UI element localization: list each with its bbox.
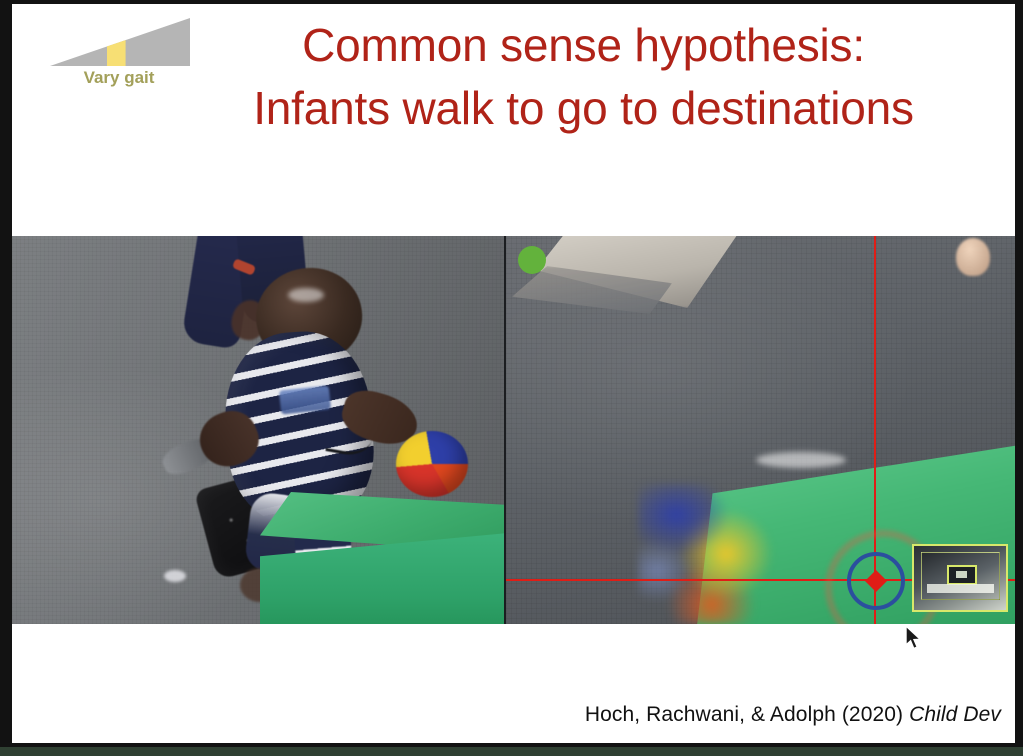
green-box-specular — [288, 288, 324, 302]
citation-journal: Child Dev — [909, 703, 1001, 726]
page-title: Common sense hypothesis: Infants walk to… — [162, 14, 1005, 141]
pip-inner-frame — [921, 552, 1000, 600]
presentation-window: Vary gait Common sense hypothesis: Infan… — [0, 0, 1023, 756]
recording-indicator-dot — [518, 246, 546, 274]
multicolor-ball-blurred — [638, 484, 798, 624]
video-panel-eye-tracker[interactable] — [506, 236, 1015, 624]
slide-header: Vary gait Common sense hypothesis: Infan… — [12, 4, 1015, 232]
slide-footer: Hoch, Rachwani, & Adolph (2020) Child De… — [12, 624, 1015, 743]
gaze-marker — [847, 552, 905, 610]
green-box-specular-egocentric — [756, 452, 846, 468]
video-figure[interactable] — [12, 236, 1015, 624]
page-title-line-2: Infants walk to go to destinations — [162, 77, 1005, 140]
citation-authors: Hoch, Rachwani, & Adolph (2020) — [585, 703, 909, 726]
video-panel-third-person[interactable] — [12, 236, 504, 624]
picture-in-picture-inset[interactable] — [912, 544, 1008, 612]
pip-nested-frame — [947, 565, 977, 585]
floor-highlight — [164, 570, 186, 582]
background-object — [956, 238, 990, 276]
green-box-front-face — [260, 532, 504, 624]
multicolor-ball — [396, 431, 468, 497]
citation: Hoch, Rachwani, & Adolph (2020) Child De… — [585, 703, 1001, 727]
wedge-yellow-band — [107, 18, 126, 66]
window-bottom-strip — [0, 747, 1023, 756]
page-title-line-1: Common sense hypothesis: — [162, 14, 1005, 77]
green-box — [260, 492, 504, 624]
pip-bottom-band — [927, 584, 994, 593]
slide-surface: Vary gait Common sense hypothesis: Infan… — [12, 4, 1015, 743]
